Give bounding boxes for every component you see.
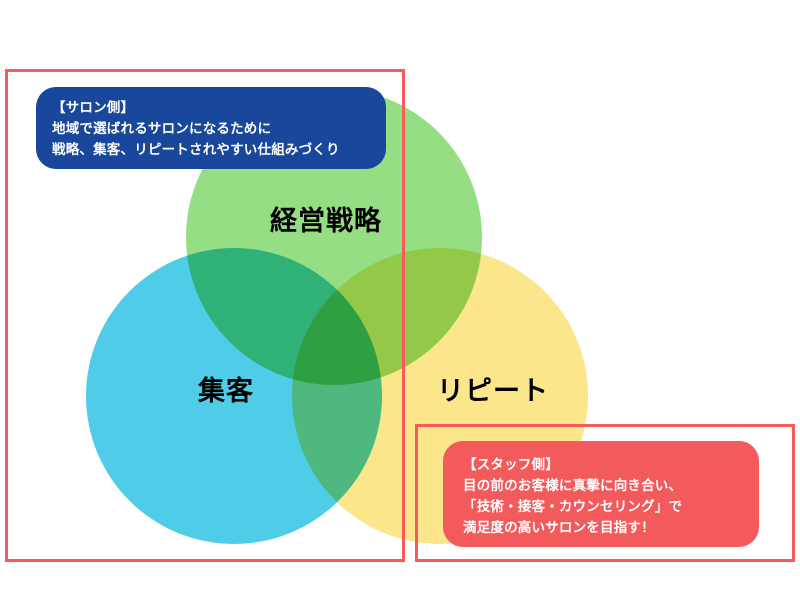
venn-label-repeat: リピート <box>437 378 549 405</box>
callout-staff: 【スタッフ側】 目の前のお客様に真摯に向き合い、 「技術・接客・カウンセリング」… <box>443 441 759 547</box>
venn-diagram-canvas: 経営戦略 集客 リピート 【サロン側】 地域で選ばれるサロンになるために 戦略、… <box>0 0 800 600</box>
callout-salon: 【サロン側】 地域で選ばれるサロンになるために 戦略、集客、リピートされやすい仕… <box>36 87 386 169</box>
